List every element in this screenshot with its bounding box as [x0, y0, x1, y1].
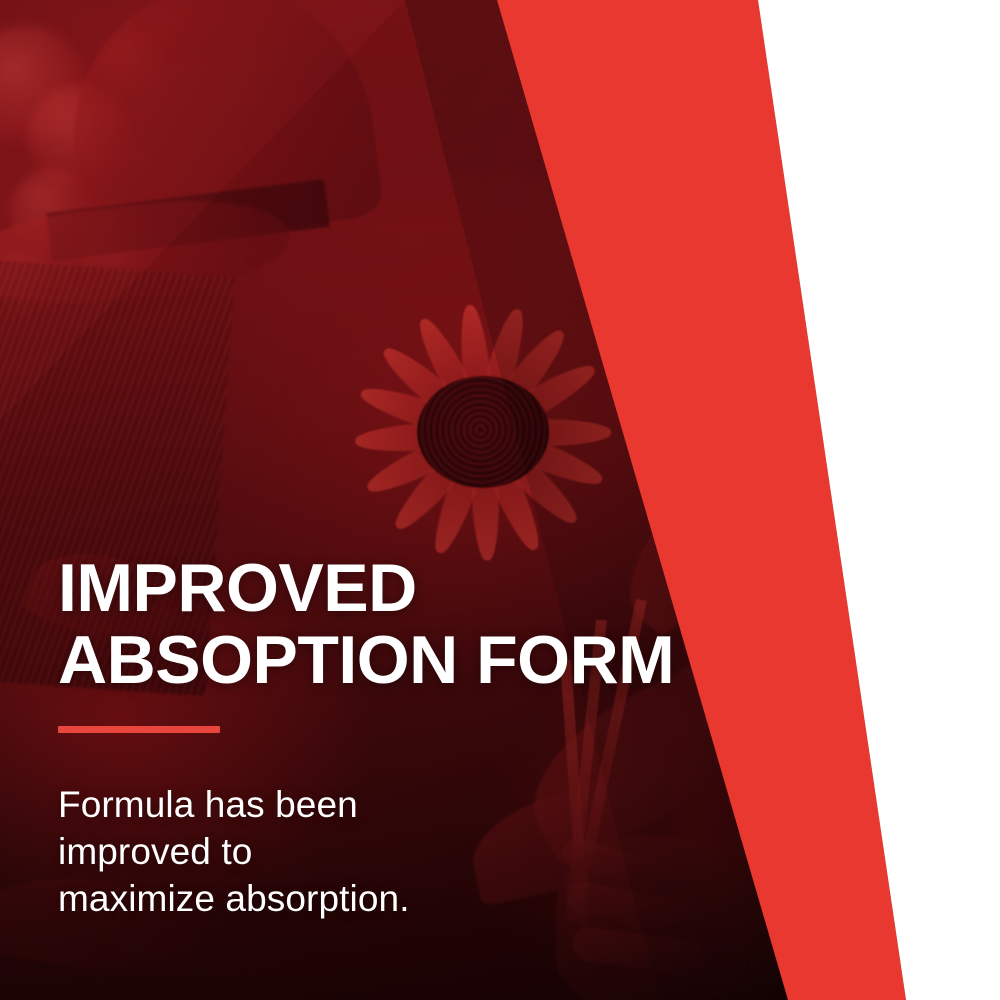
- headline: IMPROVED ABSOPTION FORM: [58, 552, 678, 696]
- promo-banner: IMPROVED ABSOPTION FORM Formula has been…: [0, 0, 1000, 1000]
- accent-divider-rule: [58, 726, 220, 733]
- subheadline: Formula has been improved to maximize ab…: [58, 781, 478, 922]
- content-block: IMPROVED ABSOPTION FORM Formula has been…: [58, 552, 678, 922]
